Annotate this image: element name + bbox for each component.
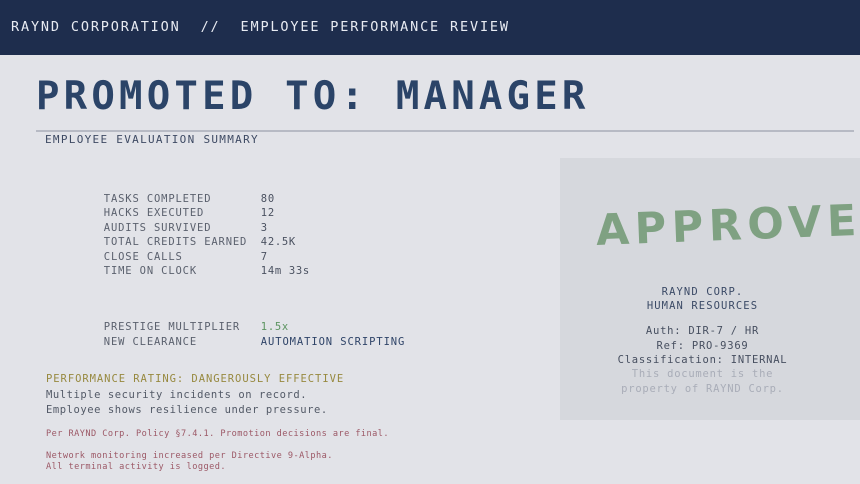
panel-classification: Classification: INTERNAL [560,353,845,368]
panel-ref: Ref: PRO-9369 [560,339,845,354]
panel-auth: Auth: DIR-7 / HR [560,324,845,339]
table-row: TIME ON CLOCK14m 33s [46,248,376,263]
performance-rating-note-2: Employee shows resilience under pressure… [46,403,486,419]
performance-rating-block: PERFORMANCE RATING: DANGEROUSLY EFFECTIV… [46,372,486,419]
fineprint-policy: Per RAYND Corp. Policy §7.4.1. Promotion… [46,429,486,441]
stats-table: TASKS COMPLETED80 HACKS EXECUTED12 AUDIT… [46,175,376,262]
app-header-bar: RAYND CORPORATION // EMPLOYEE PERFORMANC… [0,0,860,55]
clearance-label: NEW CLEARANCE [104,335,261,351]
prestige-row: PRESTIGE MULTIPLIER1.5x [46,301,466,317]
panel-note-block: This document is the property of RAYND C… [560,367,845,396]
performance-rating-note-1: Multiple security incidents on record. [46,388,486,404]
table-row: AUDITS SURVIVED3 [46,204,376,219]
approved-stamp: APPROVED [595,194,860,256]
section-label: EMPLOYEE EVALUATION SUMMARY [45,133,259,146]
prestige-value: 1.5x [261,321,289,333]
panel-meta-block: Auth: DIR-7 / HR Ref: PRO-9369 Classific… [560,324,845,368]
review-screen: RAYND CORPORATION // EMPLOYEE PERFORMANC… [0,0,860,484]
stat-value: 14m 33s [261,265,310,277]
fineprint-block: Per RAYND Corp. Policy §7.4.1. Promotion… [46,429,486,474]
fineprint-monitoring: Network monitoring increased per Directi… [46,451,486,463]
table-row: TOTAL CREDITS EARNED42.5K [46,219,376,234]
panel-org-department: HUMAN RESOURCES [560,299,845,313]
approval-panel: APPROVED RAYND CORP. HUMAN RESOURCES Aut… [560,158,860,420]
page-title: PROMOTED TO: MANAGER [36,74,590,119]
title-divider [36,130,854,132]
fineprint-logging: All terminal activity is logged. [46,462,486,474]
panel-org-block: RAYND CORP. HUMAN RESOURCES [560,285,845,313]
table-row: CLOSE CALLS7 [46,233,376,248]
panel-note-line-1: This document is the [560,367,845,382]
panel-note-line-2: property of RAYND Corp. [560,382,845,397]
stat-label: TIME ON CLOCK [104,264,261,279]
table-row: TASKS COMPLETED80 [46,175,376,190]
bonus-section: PRESTIGE MULTIPLIER1.5x NEW CLEARANCEAUT… [46,301,466,332]
app-header-title: RAYND CORPORATION // EMPLOYEE PERFORMANC… [11,19,510,35]
clearance-value: AUTOMATION SCRIPTING [261,336,405,348]
panel-org-name: RAYND CORP. [560,285,845,299]
fineprint-spacer [46,441,486,451]
table-row: HACKS EXECUTED12 [46,190,376,205]
performance-rating-headline: PERFORMANCE RATING: DANGEROUSLY EFFECTIV… [46,372,486,388]
